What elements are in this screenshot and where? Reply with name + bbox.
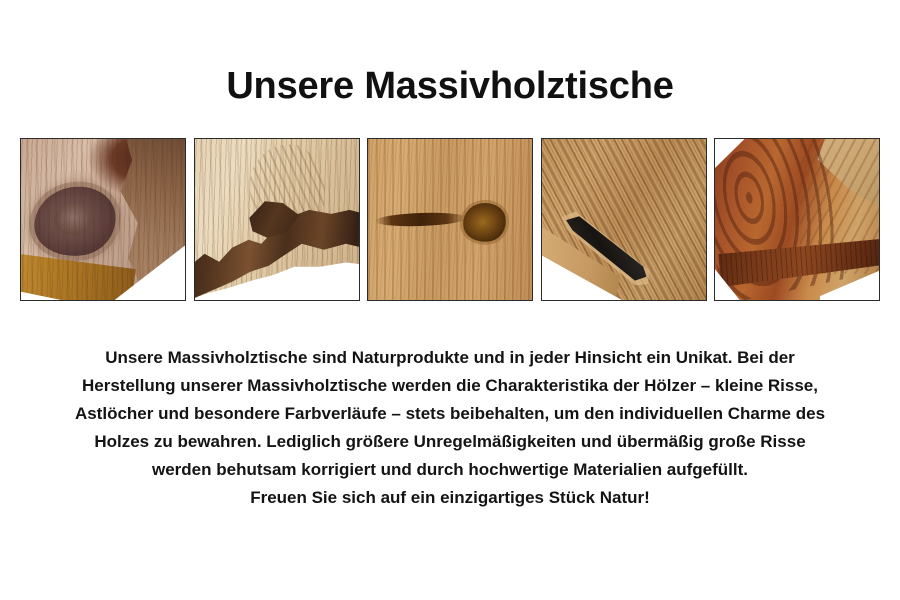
description-line: werden behutsam korrigiert und durch hoc… [0, 456, 900, 484]
gallery-photo-honey-wood-grain-with-knot [367, 138, 533, 301]
description-text: Unsere Massivholztische sind Naturproduk… [0, 344, 900, 512]
gallery-photo-pale-wood-with-dark-live-edge [194, 138, 360, 301]
description-line: Holzes zu bewahren. Lediglich größere Un… [0, 428, 900, 456]
photo-1-content [21, 139, 185, 300]
page-title: Unsere Massivholztische [0, 64, 900, 108]
photo-4-content [542, 139, 706, 300]
gallery-photo-wood-slab-corner-with-dark-knot [20, 138, 186, 301]
gallery-photo-rosewood-table-top-corner [714, 138, 880, 301]
description-line: Herstellung unserer Massivholztische wer… [0, 372, 900, 400]
photo-2-content [195, 139, 359, 300]
photo-3-content [368, 139, 532, 300]
description-line: Unsere Massivholztische sind Naturproduk… [0, 344, 900, 372]
gallery-photo-rough-sawn-wood-with-filled-crack [541, 138, 707, 301]
description-line: Astlöcher und besondere Farbverläufe – s… [0, 400, 900, 428]
photo-gallery [20, 138, 880, 301]
photo-5-content [715, 139, 879, 300]
description-line: Freuen Sie sich auf ein einzigartiges St… [0, 484, 900, 512]
massivholztische-banner: Unsere Massivholztische [0, 0, 900, 600]
